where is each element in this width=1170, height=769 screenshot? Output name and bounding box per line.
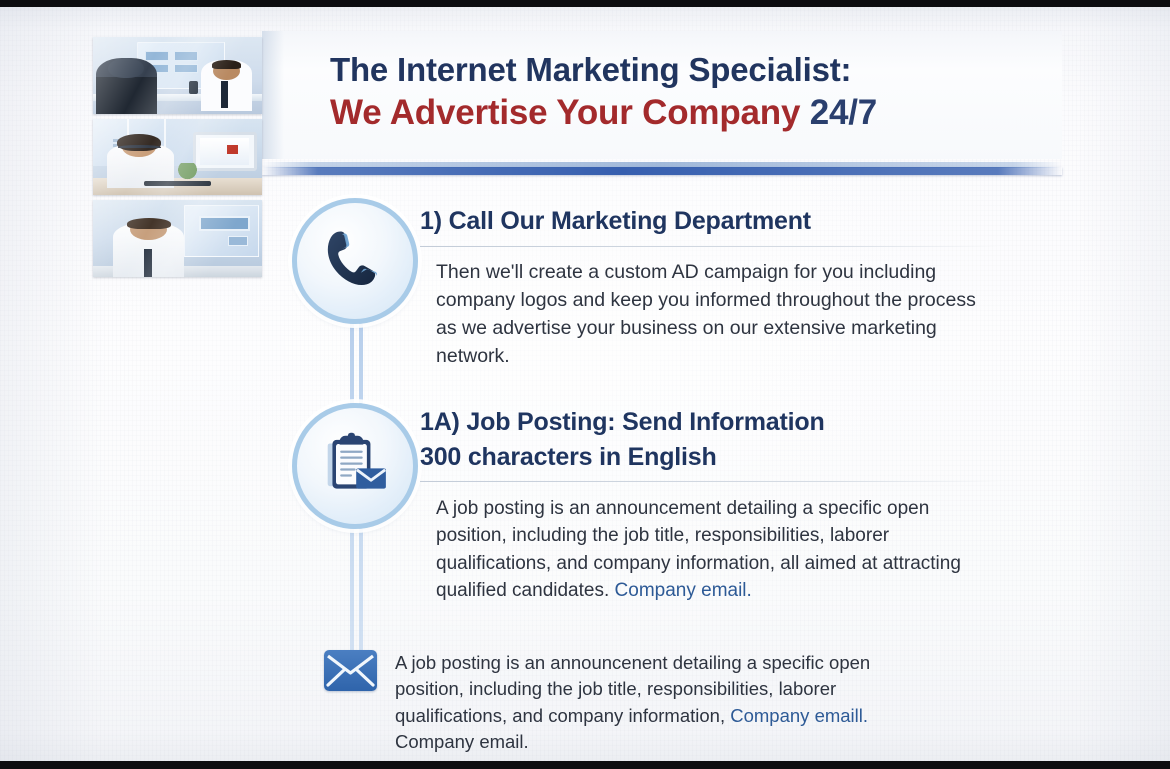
necktie <box>221 81 228 107</box>
page-title-line2: We Advertise Your Company 24/7 <box>330 92 1030 134</box>
computer-monitor <box>193 132 257 170</box>
step-2-rule <box>420 481 1000 482</box>
step-1-heading: 1) Call Our Marketing Department <box>420 204 1060 239</box>
photo-reception-desk-conversation <box>93 37 262 114</box>
step-1-text: Then we'll create a custom AD campaign f… <box>436 258 996 370</box>
keyboard <box>144 181 212 186</box>
envelope-icon[interactable] <box>324 650 377 691</box>
page-title-line1: The Internet Marketing Specialist: <box>330 51 1030 89</box>
person-hair <box>127 218 171 230</box>
divider-core <box>262 167 1062 175</box>
footer-note: A job posting is an announcenent detaili… <box>324 650 940 755</box>
company-email-link[interactable]: Company email. <box>615 580 752 601</box>
headset-icon <box>118 145 160 150</box>
wall-picture <box>145 51 169 61</box>
step-2-text: A job posting is an announcement detaili… <box>436 495 996 604</box>
step-2-heading-line2: 300 characters in English <box>420 440 1060 475</box>
clipboard-envelope-icon <box>317 428 393 504</box>
wall-picture <box>174 64 198 73</box>
wall-screen-small <box>228 236 248 247</box>
photo-collage <box>93 37 262 277</box>
office-plant <box>174 163 201 180</box>
step-1-badge[interactable] <box>292 198 418 324</box>
page-title-red-text: We Advertise Your Company <box>330 93 800 132</box>
poster-frame: The Internet Marketing Specialist: We Ad… <box>0 0 1170 769</box>
wall-screen <box>199 216 250 231</box>
poster-header: The Internet Marketing Specialist: We Ad… <box>262 31 1062 159</box>
person-hair <box>212 60 241 69</box>
step-2-body: 1A) Job Posting: Send Information 300 ch… <box>420 405 1060 604</box>
page-title-hours-badge: 24/7 <box>810 93 877 132</box>
footer-note-text: A job posting is an announcenent detaili… <box>395 650 940 755</box>
step-1-rule <box>420 246 1000 247</box>
photo-businessman-at-workstation <box>93 200 262 277</box>
header-divider-bar <box>262 162 1062 177</box>
photo-call-center-agent-headset <box>93 119 262 196</box>
desk-phone <box>189 81 197 93</box>
footer-note-trailing: Company email. <box>395 731 529 752</box>
glass-partition <box>184 205 258 257</box>
title-block: The Internet Marketing Specialist: We Ad… <box>330 51 1030 134</box>
step-1-body: 1) Call Our Marketing Department Then we… <box>420 204 1060 370</box>
company-emaill-link[interactable]: Company emaill. <box>730 705 868 726</box>
monitor-screen <box>200 138 249 165</box>
phone-icon <box>318 224 392 298</box>
necktie <box>144 249 152 277</box>
wall-picture <box>174 51 198 61</box>
step-2-badge[interactable] <box>292 403 418 529</box>
poster-canvas: The Internet Marketing Specialist: We Ad… <box>0 7 1170 761</box>
person-head <box>108 58 143 79</box>
step-2-heading-line1: 1A) Job Posting: Send Information <box>420 405 1060 440</box>
header-glass-edge <box>262 31 284 159</box>
screen-accent-block <box>227 145 239 154</box>
